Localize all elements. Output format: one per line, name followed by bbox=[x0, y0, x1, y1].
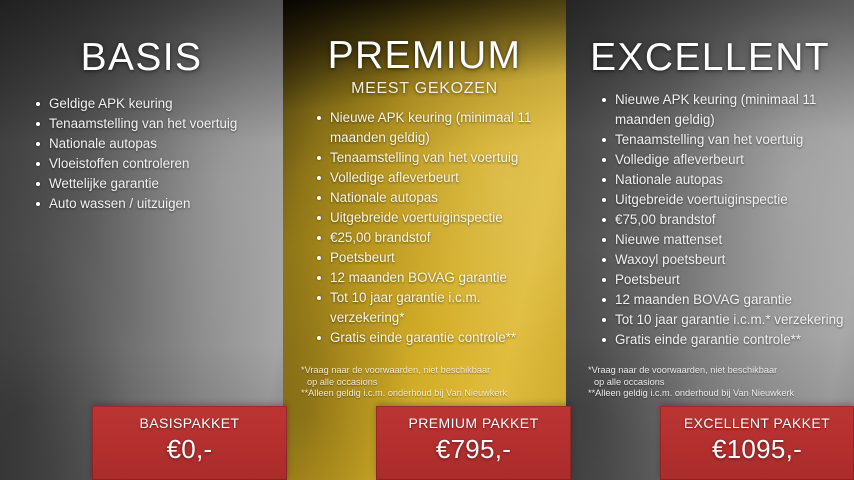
package-name-label: BASISPAKKET bbox=[92, 415, 287, 431]
package-name-label: EXCELLENT PAKKET bbox=[660, 415, 854, 431]
package-title-premium: PREMIUM bbox=[283, 34, 566, 78]
feature-item: Nationale autopas bbox=[36, 134, 276, 154]
feature-item: Tenaamstelling van het voertuig bbox=[317, 148, 555, 168]
package-name-label: PREMIUM PAKKET bbox=[376, 415, 571, 431]
feature-item: Tot 10 jaar garantie i.c.m.* verzekering bbox=[602, 310, 850, 330]
footnote-line: *Vraag naar de voorwaarden, niet beschik… bbox=[301, 365, 563, 377]
footnote-line: **Alleen geldig i.c.m. onderhoud bij Van… bbox=[588, 388, 852, 400]
feature-list-basis: Geldige APK keuring Tenaamstelling van h… bbox=[36, 94, 276, 214]
footnote-line: op alle occasions bbox=[301, 377, 563, 389]
feature-item: Vloeistoffen controleren bbox=[36, 154, 276, 174]
package-title-basis: BASIS bbox=[0, 36, 283, 80]
feature-item: Volledige afleverbeurt bbox=[602, 150, 850, 170]
feature-item: Tenaamstelling van het voertuig bbox=[36, 114, 276, 134]
footnotes-excellent: *Vraag naar de voorwaarden, niet beschik… bbox=[588, 365, 852, 400]
price-banner-basis[interactable]: BASISPAKKET €0,- bbox=[92, 406, 287, 480]
feature-item: Waxoyl poetsbeurt bbox=[602, 250, 850, 270]
feature-item: 12 maanden BOVAG garantie bbox=[602, 290, 850, 310]
feature-list-premium: Nieuwe APK keuring (minimaal 11 maanden … bbox=[317, 108, 555, 348]
feature-item: Gratis einde garantie controle** bbox=[602, 330, 850, 350]
feature-item: 12 maanden BOVAG garantie bbox=[317, 268, 555, 288]
feature-item: Poetsbeurt bbox=[317, 248, 555, 268]
price-value: €0,- bbox=[92, 434, 287, 465]
feature-item: Nieuwe APK keuring (minimaal 11 maanden … bbox=[602, 90, 850, 130]
feature-item: Gratis einde garantie controle** bbox=[317, 328, 555, 348]
footnote-line: **Alleen geldig i.c.m. onderhoud bij Van… bbox=[301, 388, 563, 400]
feature-item: Nationale autopas bbox=[602, 170, 850, 190]
package-subtitle-premium: MEEST GEKOZEN bbox=[283, 80, 566, 98]
feature-item: €25,00 brandstof bbox=[317, 228, 555, 248]
price-value: €1095,- bbox=[660, 434, 854, 465]
feature-item: Tenaamstelling van het voertuig bbox=[602, 130, 850, 150]
price-banner-premium[interactable]: PREMIUM PAKKET €795,- bbox=[376, 406, 571, 480]
feature-item: Poetsbeurt bbox=[602, 270, 850, 290]
feature-item: Uitgebreide voertuiginspectie bbox=[602, 190, 850, 210]
feature-item: Nieuwe mattenset bbox=[602, 230, 850, 250]
price-banner-excellent[interactable]: EXCELLENT PAKKET €1095,- bbox=[660, 406, 854, 480]
feature-item: Auto wassen / uitzuigen bbox=[36, 194, 276, 214]
feature-item: Wettelijke garantie bbox=[36, 174, 276, 194]
package-title-excellent: EXCELLENT bbox=[566, 36, 854, 80]
footnote-line: *Vraag naar de voorwaarden, niet beschik… bbox=[588, 365, 852, 377]
feature-item: Nationale autopas bbox=[317, 188, 555, 208]
feature-item: Nieuwe APK keuring (minimaal 11 maanden … bbox=[317, 108, 555, 148]
footnotes-premium: *Vraag naar de voorwaarden, niet beschik… bbox=[301, 365, 563, 400]
feature-list-excellent: Nieuwe APK keuring (minimaal 11 maanden … bbox=[602, 90, 850, 350]
feature-item: Uitgebreide voertuiginspectie bbox=[317, 208, 555, 228]
feature-item: €75,00 brandstof bbox=[602, 210, 850, 230]
footnote-line: op alle occasions bbox=[588, 377, 852, 389]
price-value: €795,- bbox=[376, 434, 571, 465]
feature-item: Tot 10 jaar garantie i.c.m. verzekering* bbox=[317, 288, 555, 328]
feature-item: Geldige APK keuring bbox=[36, 94, 276, 114]
pricing-comparison-board: BASIS Geldige APK keuring Tenaamstelling… bbox=[0, 0, 854, 480]
feature-item: Volledige afleverbeurt bbox=[317, 168, 555, 188]
